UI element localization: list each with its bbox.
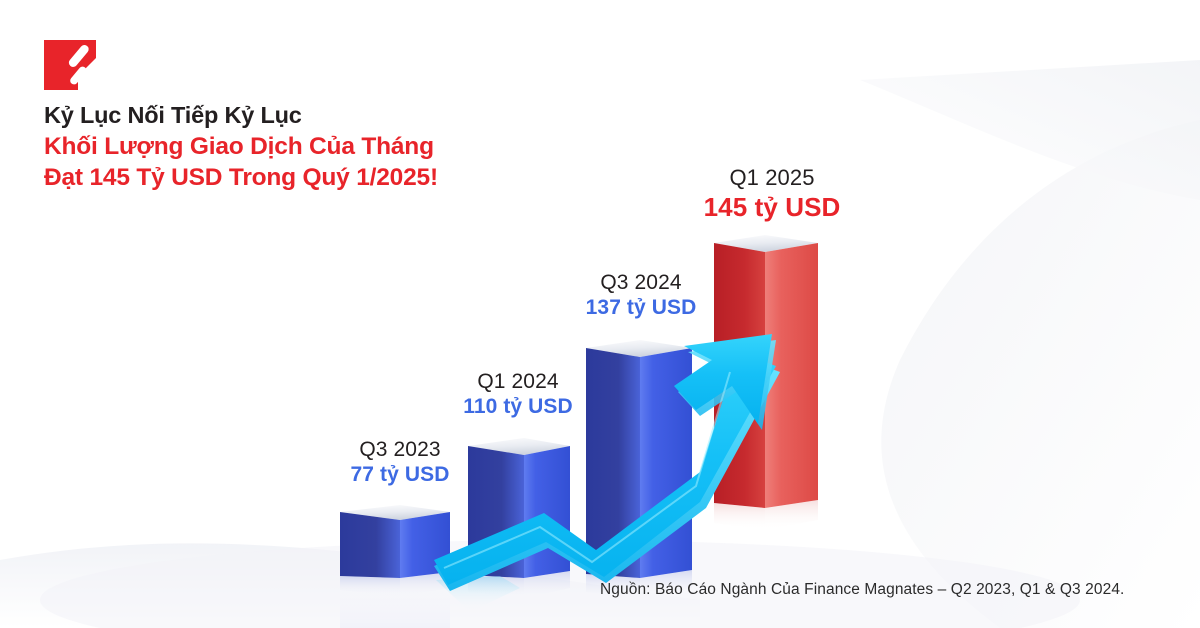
- bar-period-q3-2023: Q3 2023: [330, 437, 470, 462]
- bar-value-q1-2024: 110 tỷ USD: [446, 394, 590, 420]
- bar-value-q3-2023: 77 tỷ USD: [330, 462, 470, 488]
- bar-label-q3-2023: Q3 2023 77 tỷ USD: [330, 437, 470, 488]
- bar-value-q3-2024: 137 tỷ USD: [568, 295, 714, 321]
- bar-label-q3-2024: Q3 2024 137 tỷ USD: [568, 270, 714, 321]
- infographic-canvas: Kỷ Lục Nối Tiếp Kỷ Lục Khối Lượng Giao D…: [0, 0, 1200, 628]
- source-note: Nguồn: Báo Cáo Ngành Của Finance Magnate…: [600, 581, 1124, 599]
- bar-q3-2023: [340, 505, 450, 628]
- bar-value-q1-2025: 145 tỷ USD: [686, 191, 858, 223]
- bar-label-q1-2025: Q1 2025 145 tỷ USD: [686, 164, 858, 223]
- bar-period-q3-2024: Q3 2024: [568, 270, 714, 295]
- bar-label-q1-2024: Q1 2024 110 tỷ USD: [446, 369, 590, 420]
- bar-period-q1-2024: Q1 2024: [446, 369, 590, 394]
- bar-period-q1-2025: Q1 2025: [686, 164, 858, 191]
